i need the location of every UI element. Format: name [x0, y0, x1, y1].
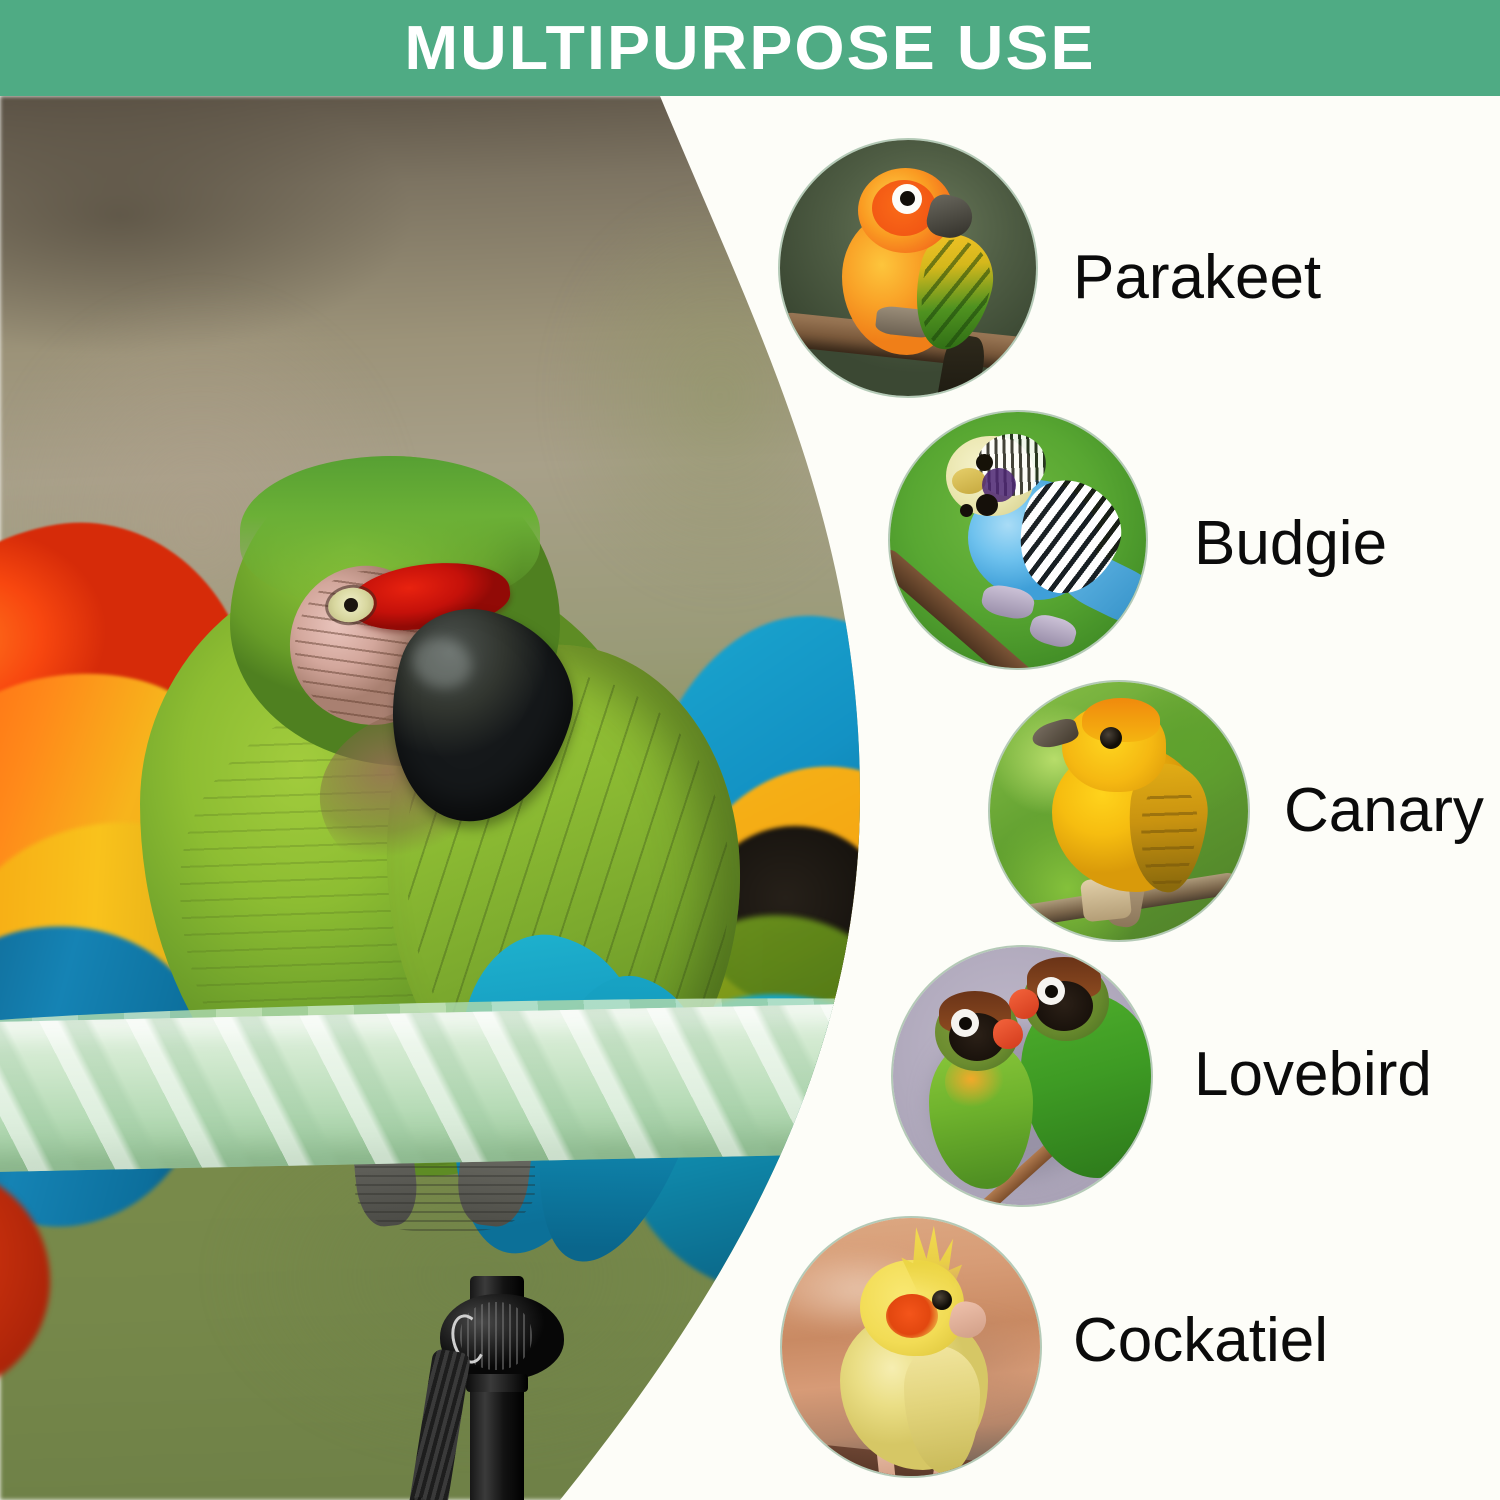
page-title: MULTIPURPOSE USE — [0, 0, 1500, 96]
list-item-label-canary: Canary — [1284, 780, 1484, 842]
header-band: MULTIPURPOSE USE — [0, 0, 1500, 96]
list-item-label-cockatiel: Cockatiel — [1073, 1310, 1328, 1372]
list-item-label-parakeet: Parakeet — [1073, 247, 1321, 309]
canary-thumbnail — [990, 682, 1248, 940]
infographic-stage: MULTIPURPOSE USE Parakeet — [0, 0, 1500, 1500]
stand-collar — [466, 1374, 528, 1392]
rope-perch-twist — [0, 1001, 940, 1173]
lovebird-thumbnail — [893, 947, 1151, 1205]
budgie-thumbnail — [890, 412, 1146, 668]
cockatiel-thumbnail — [782, 1218, 1040, 1476]
parakeet-thumbnail — [780, 140, 1036, 396]
list-item-label-budgie: Budgie — [1194, 513, 1387, 575]
list-item-label-lovebird: Lovebird — [1194, 1044, 1432, 1106]
